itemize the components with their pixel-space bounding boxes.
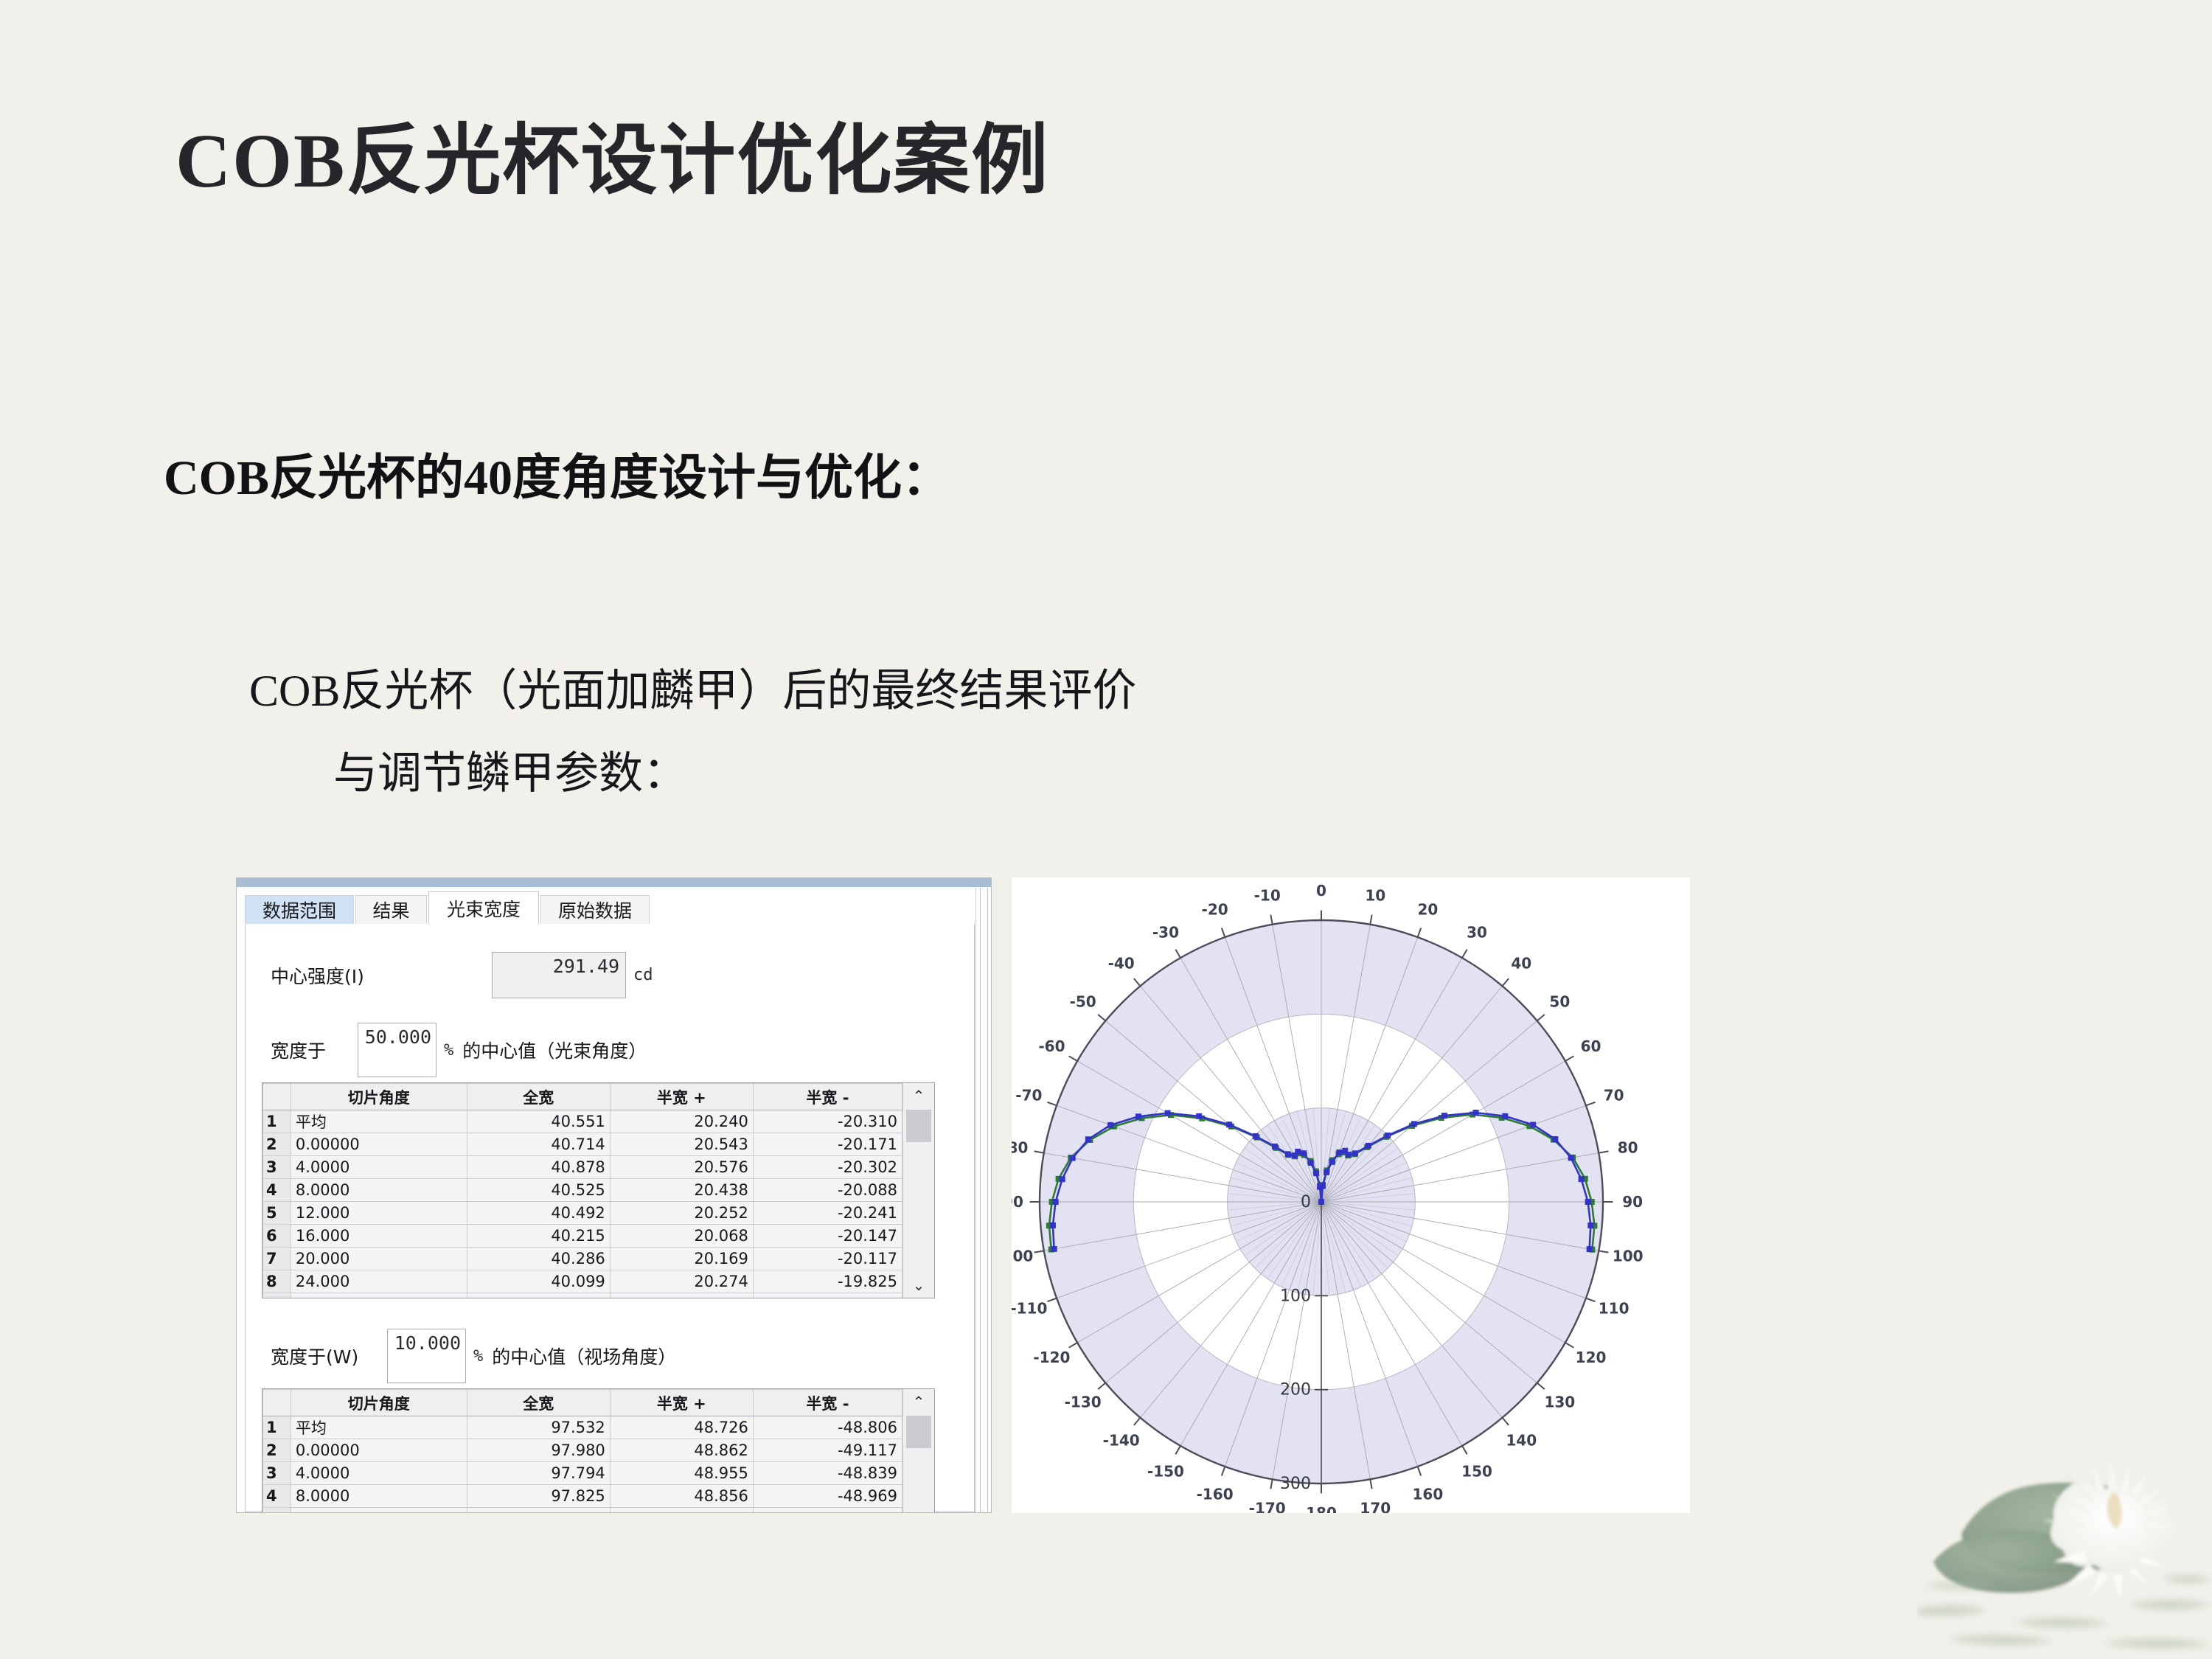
tab-beam-width[interactable]: 光束宽度 bbox=[428, 891, 539, 925]
radial-tick-label: 0 bbox=[1301, 1193, 1311, 1211]
series-marker bbox=[1070, 1155, 1076, 1161]
series-marker bbox=[1473, 1110, 1479, 1116]
cell-full-width: 40.492 bbox=[467, 1202, 610, 1225]
cell-slice-angle: 平均 bbox=[291, 1110, 467, 1133]
series-marker bbox=[1568, 1155, 1574, 1161]
beam-width-prefix-label: 宽度于 bbox=[271, 1037, 358, 1063]
series-marker bbox=[1051, 1246, 1057, 1252]
body-text-line-2: 与调节鳞甲参数： bbox=[333, 737, 687, 801]
field-width-grid[interactable]: 切片角度 全宽 半宽 + 半宽 - 1平均97.53248.726-48.806… bbox=[262, 1388, 935, 1513]
series-marker bbox=[1226, 1121, 1232, 1127]
series-marker bbox=[1324, 1169, 1329, 1175]
angle-tick bbox=[1599, 1251, 1608, 1252]
field-width-percent-input[interactable]: 10.000 bbox=[387, 1329, 466, 1383]
cell-slice-angle: 0.00000 bbox=[291, 1133, 467, 1156]
tab-label: 结果 bbox=[372, 897, 409, 923]
angle-tick-label: 50 bbox=[1549, 993, 1570, 1011]
cell-full-width: 97.825 bbox=[467, 1485, 610, 1508]
angle-tick-label: 100 bbox=[1613, 1247, 1644, 1265]
angle-tick bbox=[1134, 1418, 1141, 1425]
angle-tick-label: 80 bbox=[1618, 1139, 1638, 1157]
table-header-row: 切片角度 全宽 半宽 + 半宽 - bbox=[263, 1084, 902, 1110]
angle-tick-label: -100 bbox=[1012, 1247, 1033, 1265]
cell-index: 4 bbox=[263, 1179, 291, 1202]
dialog-vertical-scrollbar[interactable] bbox=[975, 888, 991, 1512]
col-half-width-minus: 半宽 - bbox=[753, 1084, 902, 1110]
table-row[interactable]: 720.00040.28620.169-20.117 bbox=[263, 1248, 902, 1270]
series-marker bbox=[1085, 1136, 1091, 1142]
cell-half-width-plus: 20.169 bbox=[610, 1248, 753, 1270]
angle-tick bbox=[1565, 1056, 1574, 1061]
angle-tick bbox=[1418, 1467, 1422, 1476]
cell-slice-angle: 24.000 bbox=[291, 1270, 467, 1293]
series-marker bbox=[1295, 1149, 1301, 1155]
field-width-prefix-label: 宽度于(W) bbox=[271, 1343, 387, 1369]
beam-width-percent-row: 宽度于 50.000 % 的中心值（光束角度） bbox=[271, 1023, 647, 1077]
cell-index: 7 bbox=[263, 1248, 291, 1270]
cell-index: 1 bbox=[263, 1416, 291, 1439]
angle-tick bbox=[1047, 1298, 1057, 1302]
beam-width-percent-input[interactable]: 50.000 bbox=[358, 1023, 437, 1077]
cell-half-width-plus: 48.955 bbox=[610, 1462, 753, 1485]
scroll-up-icon[interactable]: ⌃ bbox=[903, 1085, 934, 1107]
angle-tick bbox=[1586, 1102, 1596, 1106]
angle-tick bbox=[1418, 928, 1422, 937]
cell-index: 2 bbox=[263, 1133, 291, 1156]
col-slice-angle: 切片角度 bbox=[291, 1084, 467, 1110]
angle-tick bbox=[1586, 1298, 1596, 1302]
cell-full-width: 40.099 bbox=[467, 1270, 610, 1293]
angle-tick-label: 110 bbox=[1599, 1299, 1630, 1317]
scroll-down-icon[interactable]: ⌄ bbox=[903, 1274, 934, 1296]
cell-full-width: 40.215 bbox=[467, 1225, 610, 1248]
cell-half-width-plus: 48.828 bbox=[610, 1508, 753, 1514]
series-marker bbox=[1352, 1150, 1358, 1156]
series-marker bbox=[1135, 1113, 1141, 1119]
cell-index: 3 bbox=[263, 1156, 291, 1179]
series-marker bbox=[1272, 1144, 1278, 1150]
table-row[interactable]: 1平均40.55120.240-20.310 bbox=[263, 1110, 902, 1133]
angle-tick-label: -40 bbox=[1108, 955, 1135, 973]
cell-slice-angle: 16.000 bbox=[291, 1225, 467, 1248]
series-marker bbox=[1196, 1113, 1202, 1119]
beam-width-grid[interactable]: 切片角度 全宽 半宽 + 半宽 - 1平均40.55120.240-20.310… bbox=[262, 1082, 935, 1298]
angle-tick-label: -60 bbox=[1038, 1037, 1065, 1055]
dialog-titlebar bbox=[237, 878, 991, 887]
angle-tick-label: -160 bbox=[1197, 1486, 1234, 1503]
cell-slice-angle: 28.000 bbox=[291, 1293, 467, 1299]
angle-tick-label: 10 bbox=[1365, 886, 1385, 904]
tab-label: 数据范围 bbox=[262, 897, 336, 923]
angle-tick bbox=[1270, 915, 1272, 925]
series-marker bbox=[1253, 1133, 1259, 1139]
cell-full-width: 97.794 bbox=[467, 1462, 610, 1485]
cell-half-width-plus: 20.543 bbox=[610, 1133, 753, 1156]
cell-index: 9 bbox=[263, 1293, 291, 1299]
angle-tick bbox=[1034, 1251, 1044, 1252]
angle-tick bbox=[1175, 1446, 1180, 1455]
cell-half-width-minus: -48.839 bbox=[753, 1462, 902, 1485]
cell-index: 8 bbox=[263, 1270, 291, 1293]
cell-half-width-minus: -19.825 bbox=[753, 1270, 902, 1293]
cell-index: 2 bbox=[263, 1439, 291, 1462]
angle-tick bbox=[1503, 1418, 1509, 1425]
cell-half-width-plus: 20.240 bbox=[610, 1110, 753, 1133]
tab-results[interactable]: 结果 bbox=[355, 895, 427, 924]
beam-width-table-body: 1平均40.55120.240-20.31020.0000040.71420.5… bbox=[263, 1110, 902, 1299]
series-marker bbox=[1346, 1152, 1352, 1158]
cell-half-width-minus: -48.806 bbox=[753, 1416, 902, 1439]
angle-tick-label: -80 bbox=[1012, 1139, 1028, 1157]
body-text-line-1: COB反光杯（光面加麟甲）后的最终结果评价 bbox=[249, 655, 1136, 719]
angle-tick-label: -140 bbox=[1103, 1431, 1140, 1449]
angle-tick-label: 60 bbox=[1581, 1037, 1601, 1055]
scrollbar-track[interactable] bbox=[980, 888, 988, 1512]
cell-full-width: 40.286 bbox=[467, 1248, 610, 1270]
cell-half-width-minus: -20.171 bbox=[753, 1133, 902, 1156]
water-lily-decoration-icon bbox=[1917, 1438, 2212, 1659]
cell-slice-angle: 12.000 bbox=[291, 1508, 467, 1514]
series-marker bbox=[1530, 1121, 1536, 1127]
cell-half-width-plus: 48.726 bbox=[610, 1416, 753, 1439]
angle-tick-label: 140 bbox=[1506, 1431, 1537, 1449]
angle-tick-label: 20 bbox=[1417, 900, 1438, 918]
tab-label: 光束宽度 bbox=[447, 895, 521, 922]
tab-label: 原始数据 bbox=[558, 897, 632, 923]
cell-index: 4 bbox=[263, 1485, 291, 1508]
angle-tick bbox=[1370, 1479, 1371, 1489]
col-half-width-minus: 半宽 - bbox=[753, 1390, 902, 1416]
table-row[interactable]: 512.00097.86948.828-49.041 bbox=[263, 1508, 902, 1514]
table-row[interactable]: 34.000040.87820.576-20.302 bbox=[263, 1156, 902, 1179]
cell-full-width: 97.980 bbox=[467, 1439, 610, 1462]
angle-tick bbox=[1537, 1383, 1545, 1390]
angle-tick bbox=[1537, 1015, 1545, 1021]
angle-tick bbox=[1098, 1015, 1105, 1021]
cell-half-width-plus: 20.068 bbox=[610, 1225, 753, 1248]
angle-tick bbox=[1034, 1151, 1044, 1152]
cell-index: 6 bbox=[263, 1225, 291, 1248]
cell-half-width-minus: -20.302 bbox=[753, 1156, 902, 1179]
angle-tick-label: -170 bbox=[1249, 1500, 1286, 1513]
table-row[interactable]: 512.00040.49220.252-20.241 bbox=[263, 1202, 902, 1225]
cell-full-width: 40.367 bbox=[467, 1293, 610, 1299]
angle-tick-label: 70 bbox=[1604, 1087, 1624, 1105]
col-half-width-plus: 半宽 + bbox=[610, 1084, 753, 1110]
cell-half-width-minus: -20.147 bbox=[753, 1225, 902, 1248]
table-row[interactable]: 20.0000097.98048.862-49.117 bbox=[263, 1439, 902, 1462]
angle-tick-label: -90 bbox=[1012, 1193, 1023, 1211]
cell-slice-angle: 4.0000 bbox=[291, 1156, 467, 1179]
angle-tick bbox=[1222, 928, 1225, 937]
center-intensity-label: 中心强度(I) bbox=[271, 962, 492, 989]
angle-tick bbox=[1222, 1467, 1225, 1476]
angle-tick bbox=[1175, 950, 1180, 959]
field-width-table-body: 1平均97.53248.726-48.80620.0000097.98048.8… bbox=[263, 1416, 902, 1514]
cell-slice-angle: 12.000 bbox=[291, 1202, 467, 1225]
angle-tick bbox=[1462, 950, 1467, 959]
cell-index: 1 bbox=[263, 1110, 291, 1133]
series-marker bbox=[1366, 1143, 1371, 1149]
cell-slice-angle: 8.0000 bbox=[291, 1179, 467, 1202]
cell-index: 5 bbox=[263, 1202, 291, 1225]
series-marker bbox=[1320, 1183, 1326, 1189]
table-row[interactable]: 34.000097.79448.955-48.839 bbox=[263, 1462, 902, 1485]
center-intensity-value: 291.49 bbox=[492, 952, 626, 998]
cell-full-width: 40.525 bbox=[467, 1179, 610, 1202]
cell-slice-angle: 4.0000 bbox=[291, 1462, 467, 1485]
angle-tick bbox=[1462, 1446, 1467, 1455]
section-heading: COB反光杯的40度角度设计与优化： bbox=[164, 438, 950, 509]
series-marker bbox=[1411, 1121, 1417, 1127]
series-marker bbox=[1165, 1110, 1171, 1116]
radial-tick-label: 200 bbox=[1280, 1381, 1311, 1399]
embedded-screenshot: 数据范围 结果 光束宽度 原始数据 中心强度(I) 291.49 cd 宽度于 … bbox=[236, 877, 1690, 1513]
table-header-row: 切片角度 全宽 半宽 + 半宽 - bbox=[263, 1390, 902, 1416]
series-marker bbox=[1329, 1159, 1335, 1165]
table-row[interactable]: 616.00040.21520.068-20.147 bbox=[263, 1225, 902, 1248]
scroll-up-icon[interactable]: ⌃ bbox=[903, 1391, 934, 1413]
angle-tick bbox=[1599, 1151, 1608, 1152]
field-width-suffix-label: 的中心值（视场角度） bbox=[492, 1343, 676, 1369]
field-width-percent-row: 宽度于(W) 10.000 % 的中心值（视场角度） bbox=[271, 1329, 676, 1383]
series-marker bbox=[1301, 1150, 1307, 1156]
series-marker bbox=[1285, 1151, 1291, 1157]
table-row[interactable]: 824.00040.09920.274-19.825 bbox=[263, 1270, 902, 1293]
table-row[interactable]: 48.000040.52520.438-20.088 bbox=[263, 1179, 902, 1202]
cell-slice-angle: 平均 bbox=[291, 1416, 467, 1439]
angle-tick-label: 180 bbox=[1306, 1504, 1337, 1513]
cell-full-width: 40.878 bbox=[467, 1156, 610, 1179]
angle-tick-label: -150 bbox=[1147, 1463, 1184, 1481]
tab-data-range[interactable]: 数据范围 bbox=[245, 895, 354, 924]
series-marker bbox=[1050, 1222, 1056, 1228]
scrollbar-thumb[interactable] bbox=[906, 1110, 931, 1142]
series-marker bbox=[1502, 1113, 1508, 1119]
page-title: COB反光杯设计优化案例 bbox=[175, 97, 1049, 209]
col-index bbox=[263, 1390, 291, 1416]
angle-tick-label: -120 bbox=[1033, 1349, 1070, 1366]
angle-tick-label: -10 bbox=[1254, 886, 1281, 904]
angle-tick bbox=[1047, 1102, 1057, 1106]
series-marker bbox=[1107, 1122, 1113, 1128]
series-marker bbox=[1585, 1199, 1591, 1205]
angle-tick bbox=[1270, 1479, 1272, 1489]
cell-slice-angle: 8.0000 bbox=[291, 1485, 467, 1508]
angle-tick-label: -50 bbox=[1070, 993, 1096, 1011]
cell-half-width-plus: 20.438 bbox=[610, 1179, 753, 1202]
angle-tick bbox=[1098, 1383, 1105, 1390]
cell-half-width-plus: 20.324 bbox=[610, 1293, 753, 1299]
table-row[interactable]: 20.0000040.71420.543-20.171 bbox=[263, 1133, 902, 1156]
cell-half-width-minus: -20.043 bbox=[753, 1293, 902, 1299]
angle-tick-label: 130 bbox=[1544, 1393, 1575, 1411]
cell-slice-angle: 20.000 bbox=[291, 1248, 467, 1270]
scrollbar-thumb[interactable] bbox=[906, 1416, 931, 1448]
cell-half-width-minus: -48.969 bbox=[753, 1485, 902, 1508]
angle-tick-label: 0 bbox=[1316, 882, 1326, 900]
cell-full-width: 97.869 bbox=[467, 1508, 610, 1514]
cell-half-width-minus: -49.041 bbox=[753, 1508, 902, 1514]
cell-half-width-plus: 48.862 bbox=[610, 1439, 753, 1462]
angle-tick-label: -110 bbox=[1012, 1299, 1047, 1317]
radial-tick-label: 300 bbox=[1280, 1475, 1311, 1493]
angle-tick-label: 120 bbox=[1576, 1349, 1607, 1366]
angle-tick bbox=[1565, 1343, 1574, 1348]
cell-full-width: 97.532 bbox=[467, 1416, 610, 1439]
angle-tick-label: 150 bbox=[1461, 1463, 1492, 1481]
angle-tick-label: -30 bbox=[1152, 923, 1179, 941]
series-marker bbox=[1053, 1199, 1059, 1205]
angle-tick bbox=[1370, 915, 1371, 925]
angle-tick-label: 30 bbox=[1467, 923, 1487, 941]
cell-full-width: 40.714 bbox=[467, 1133, 610, 1156]
series-marker bbox=[1441, 1113, 1447, 1119]
percent-sign: % bbox=[473, 1347, 483, 1366]
angle-tick bbox=[1069, 1056, 1078, 1061]
series-marker bbox=[1313, 1170, 1319, 1176]
cell-half-width-plus: 20.576 bbox=[610, 1156, 753, 1179]
series-marker bbox=[1318, 1199, 1324, 1205]
cell-index: 5 bbox=[263, 1508, 291, 1514]
beam-width-grid-scrollbar[interactable]: ⌃ ⌄ bbox=[902, 1083, 934, 1298]
angle-tick-label: 170 bbox=[1360, 1500, 1391, 1513]
center-intensity-unit: cd bbox=[633, 966, 653, 984]
cell-half-width-minus: -20.241 bbox=[753, 1202, 902, 1225]
col-full-width: 全宽 bbox=[467, 1390, 610, 1416]
angle-tick-label: 40 bbox=[1511, 955, 1531, 973]
percent-sign: % bbox=[444, 1041, 453, 1060]
table-row[interactable]: 48.000097.82548.856-48.969 bbox=[263, 1485, 902, 1508]
beam-analysis-dialog: 数据范围 结果 光束宽度 原始数据 中心强度(I) 291.49 cd 宽度于 … bbox=[236, 877, 992, 1513]
series-marker bbox=[1552, 1136, 1558, 1142]
angle-tick bbox=[1069, 1343, 1078, 1348]
cell-half-width-minus: -49.117 bbox=[753, 1439, 902, 1462]
cell-half-width-minus: -20.117 bbox=[753, 1248, 902, 1270]
angle-tick-label: -70 bbox=[1015, 1087, 1042, 1105]
angle-tick bbox=[1503, 978, 1509, 986]
series-marker bbox=[1385, 1133, 1391, 1138]
series-marker bbox=[1336, 1150, 1342, 1155]
series-marker bbox=[1587, 1222, 1593, 1228]
cell-index: 3 bbox=[263, 1462, 291, 1485]
table-row[interactable]: 928.00040.36720.324-20.043 bbox=[263, 1293, 902, 1299]
beam-width-table: 切片角度 全宽 半宽 + 半宽 - 1平均40.55120.240-20.310… bbox=[262, 1083, 902, 1298]
cell-half-width-plus: 20.252 bbox=[610, 1202, 753, 1225]
angle-tick-label: 90 bbox=[1622, 1193, 1643, 1211]
col-slice-angle: 切片角度 bbox=[291, 1390, 467, 1416]
cell-half-width-plus: 48.856 bbox=[610, 1485, 753, 1508]
angle-tick-label: 160 bbox=[1412, 1486, 1443, 1503]
polar-intensity-chart: 0102030405060708090100110120130140150160… bbox=[1012, 877, 1690, 1513]
beam-width-suffix-label: 的中心值（光束角度） bbox=[462, 1037, 647, 1063]
field-width-table: 切片角度 全宽 半宽 + 半宽 - 1平均97.53248.726-48.806… bbox=[262, 1389, 902, 1513]
tab-raw-data[interactable]: 原始数据 bbox=[540, 895, 650, 924]
angle-tick-label: -20 bbox=[1202, 900, 1228, 918]
series-marker bbox=[1060, 1176, 1065, 1182]
angle-tick-label: -130 bbox=[1065, 1393, 1102, 1411]
beam-width-panel: 中心强度(I) 291.49 cd 宽度于 50.000 % 的中心值（光束角度… bbox=[245, 924, 975, 1512]
radial-tick-label: 100 bbox=[1280, 1287, 1311, 1305]
col-index bbox=[263, 1084, 291, 1110]
table-row[interactable]: 1平均97.53248.726-48.806 bbox=[263, 1416, 902, 1439]
angle-tick bbox=[1134, 978, 1141, 986]
cell-full-width: 40.551 bbox=[467, 1110, 610, 1133]
series-marker bbox=[1587, 1246, 1593, 1252]
cell-half-width-minus: -20.310 bbox=[753, 1110, 902, 1133]
polar-chart-svg: 0102030405060708090100110120130140150160… bbox=[1012, 877, 1690, 1513]
field-width-grid-scrollbar[interactable]: ⌃ bbox=[902, 1389, 934, 1513]
cell-half-width-plus: 20.274 bbox=[610, 1270, 753, 1293]
series-marker bbox=[1579, 1176, 1585, 1182]
center-intensity-row: 中心强度(I) 291.49 cd bbox=[271, 952, 653, 998]
series-marker bbox=[1308, 1160, 1314, 1166]
col-half-width-plus: 半宽 + bbox=[610, 1390, 753, 1416]
cell-half-width-minus: -20.088 bbox=[753, 1179, 902, 1202]
tab-strip: 数据范围 结果 光束宽度 原始数据 bbox=[245, 891, 975, 925]
cell-slice-angle: 0.00000 bbox=[291, 1439, 467, 1462]
col-full-width: 全宽 bbox=[467, 1084, 610, 1110]
